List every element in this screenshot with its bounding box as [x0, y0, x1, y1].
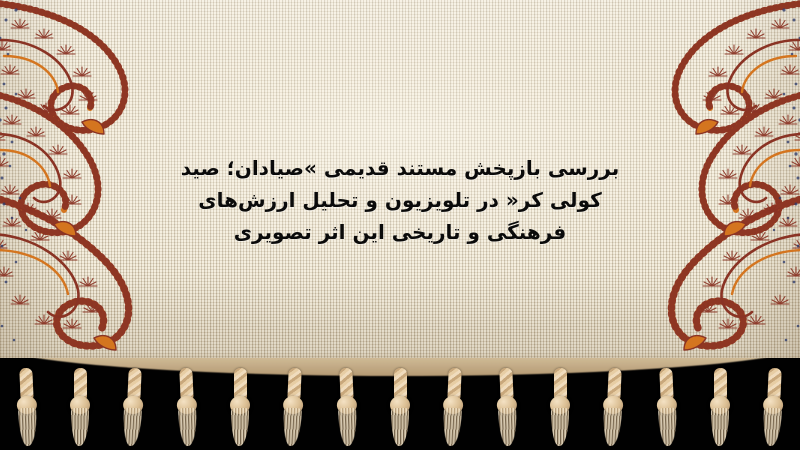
tassel-skirt — [231, 408, 249, 446]
tassel — [65, 368, 95, 448]
knotted-tassel-fringe — [0, 358, 800, 450]
tassel — [650, 367, 683, 448]
title-line-2: کولی کر« در تلویزیون و تحلیل ارزش‌های — [0, 184, 800, 216]
tassel-skirt — [391, 408, 409, 446]
tassel — [385, 368, 415, 448]
tassel-skirt — [498, 408, 518, 447]
tassel — [170, 367, 203, 448]
tassel — [597, 367, 630, 448]
tassel — [757, 367, 790, 448]
tassel-skirt — [763, 408, 783, 447]
tassel — [705, 368, 735, 448]
tassel-skirt — [551, 408, 569, 446]
banner-image: بررسی بازپخش مستند قدیمی »صیادان؛ صید کو… — [0, 0, 800, 450]
tassel — [545, 368, 575, 448]
tassel — [437, 367, 470, 448]
tassel-skirt — [71, 408, 89, 446]
tassel — [225, 368, 255, 448]
tassel — [277, 367, 310, 448]
tassel — [117, 367, 150, 448]
title-line-3: فرهنگی و تاریخی این اثر تصویری — [0, 216, 800, 248]
tassel-skirt — [443, 408, 463, 447]
tassel-skirt — [178, 408, 198, 447]
tassel-skirt — [711, 408, 729, 446]
tassel-skirt — [123, 408, 143, 447]
tassel-skirt — [603, 408, 623, 447]
tassel — [330, 367, 363, 448]
tassel-skirt — [283, 408, 303, 447]
tassel-skirt — [658, 408, 678, 447]
title-line-1: بررسی بازپخش مستند قدیمی »صیادان؛ صید — [0, 152, 800, 184]
tassel-row — [0, 368, 800, 450]
banner-title-block: بررسی بازپخش مستند قدیمی »صیادان؛ صید کو… — [0, 152, 800, 248]
tassel — [490, 367, 523, 448]
tassel — [10, 367, 43, 448]
tassel-skirt — [18, 408, 38, 447]
tassel-skirt — [338, 408, 358, 447]
